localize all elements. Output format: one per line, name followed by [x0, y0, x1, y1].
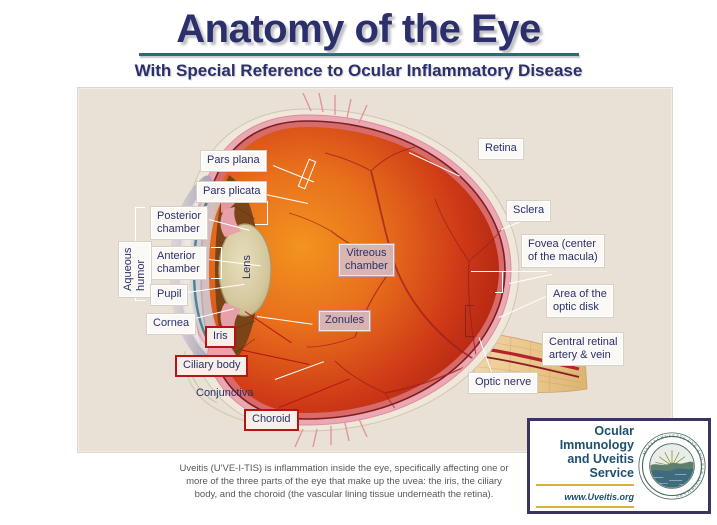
logo-name-line3: and Uveitis — [536, 452, 634, 466]
label-central-retinal-line2: artery & vein — [549, 349, 617, 362]
caption-line-2: more of the three parts of the eye that … — [168, 475, 520, 488]
organization-logo[interactable]: Ocular Immunology and Uveitis Service ww… — [527, 418, 711, 514]
label-posterior-chamber-line2: chamber — [157, 223, 201, 236]
label-pars-plicata-text: Pars plicata — [203, 185, 260, 197]
label-posterior-chamber[interactable]: Posterior chamber — [151, 207, 207, 239]
label-vitreous-chamber-line1: Vitreous — [345, 247, 388, 260]
logo-name-line4: Service — [536, 466, 634, 480]
label-lens-text: Lens — [241, 255, 253, 279]
label-conjunctiva-text: Conjunctiva — [196, 387, 253, 399]
label-sclera[interactable]: Sclera — [507, 201, 550, 221]
caption-text: Uveitis (U'VE-I-TIS) is inflammation ins… — [168, 462, 520, 501]
mass-eye-and-ear-seal-icon: MASSACHUSETTS EYE AND EAR INFIRMARY — [636, 430, 708, 502]
label-pupil[interactable]: Pupil — [151, 285, 187, 305]
label-anterior-chamber-line2: chamber — [157, 263, 200, 276]
label-retina[interactable]: Retina — [479, 139, 523, 159]
page-subtitle: With Special Reference to Ocular Inflamm… — [0, 61, 717, 81]
label-fovea[interactable]: Fovea (center of the macula) — [522, 235, 604, 267]
label-sclera-text: Sclera — [513, 204, 544, 216]
label-zonules-text: Zonules — [325, 314, 364, 326]
label-cornea[interactable]: Cornea — [147, 314, 195, 334]
diagram-panel: Pars plana Pars plicata Posterior chambe… — [78, 88, 672, 452]
label-aqueous-humor-line1: Aqueous — [122, 248, 135, 291]
label-pars-plana[interactable]: Pars plana — [201, 151, 266, 171]
logo-name-line1: Ocular — [536, 424, 634, 438]
bracket-optic-disk — [465, 305, 474, 337]
label-anterior-chamber[interactable]: Anterior chamber — [151, 247, 206, 279]
logo-name-line2: Immunology — [536, 438, 634, 452]
label-pupil-text: Pupil — [157, 288, 181, 300]
label-central-retinal[interactable]: Central retinal artery & vein — [543, 333, 623, 365]
label-optic-nerve-text: Optic nerve — [475, 376, 531, 388]
label-pars-plicata[interactable]: Pars plicata — [197, 182, 266, 202]
label-optic-disk[interactable]: Area of the optic disk — [547, 285, 613, 317]
label-fovea-line2: of the macula) — [528, 251, 598, 264]
label-lens: Lens — [239, 250, 257, 284]
label-aqueous-humor-line2: humor — [135, 248, 148, 291]
leader-optic-disk — [471, 271, 547, 272]
page-title: Anatomy of the Eye — [176, 8, 540, 50]
label-conjunctiva[interactable]: Conjunctiva — [191, 385, 258, 403]
label-posterior-chamber-line1: Posterior — [157, 210, 201, 223]
label-choroid[interactable]: Choroid — [244, 409, 299, 431]
label-vitreous-chamber-line2: chamber — [345, 260, 388, 273]
bracket-fovea — [495, 271, 503, 293]
logo-url-bar: www.Uveitis.org — [536, 484, 634, 508]
title-underline — [139, 53, 579, 56]
label-central-retinal-line1: Central retinal — [549, 336, 617, 349]
label-optic-nerve[interactable]: Optic nerve — [469, 373, 537, 393]
label-choroid-text: Choroid — [252, 413, 291, 425]
label-ciliary-body-text: Ciliary body — [183, 359, 240, 371]
label-iris[interactable]: Iris — [205, 326, 236, 348]
label-retina-text: Retina — [485, 142, 517, 154]
label-fovea-line1: Fovea (center — [528, 238, 598, 251]
label-zonules[interactable]: Zonules — [319, 311, 370, 331]
logo-text-block: Ocular Immunology and Uveitis Service ww… — [530, 424, 634, 508]
label-pars-plana-text: Pars plana — [207, 154, 260, 166]
label-optic-disk-line2: optic disk — [553, 301, 607, 314]
logo-website-link[interactable]: www.Uveitis.org — [564, 492, 634, 502]
caption-line-1: Uveitis (U'VE-I-TIS) is inflammation ins… — [168, 462, 520, 475]
label-cornea-text: Cornea — [153, 317, 189, 329]
label-aqueous-humor[interactable]: Aqueous humor — [119, 242, 151, 297]
label-vitreous-chamber[interactable]: Vitreous chamber — [339, 244, 394, 276]
bracket-posterior-chamber — [255, 201, 268, 225]
label-iris-text: Iris — [213, 330, 228, 342]
label-ciliary-body[interactable]: Ciliary body — [175, 355, 248, 377]
label-optic-disk-line1: Area of the — [553, 288, 607, 301]
caption-line-3: body, and the choroid (the vascular lini… — [168, 488, 520, 501]
bracket-anterior-chamber — [211, 247, 222, 279]
label-anterior-chamber-line1: Anterior — [157, 250, 200, 263]
title-block: Anatomy of the Eye With Special Referenc… — [0, 8, 717, 81]
